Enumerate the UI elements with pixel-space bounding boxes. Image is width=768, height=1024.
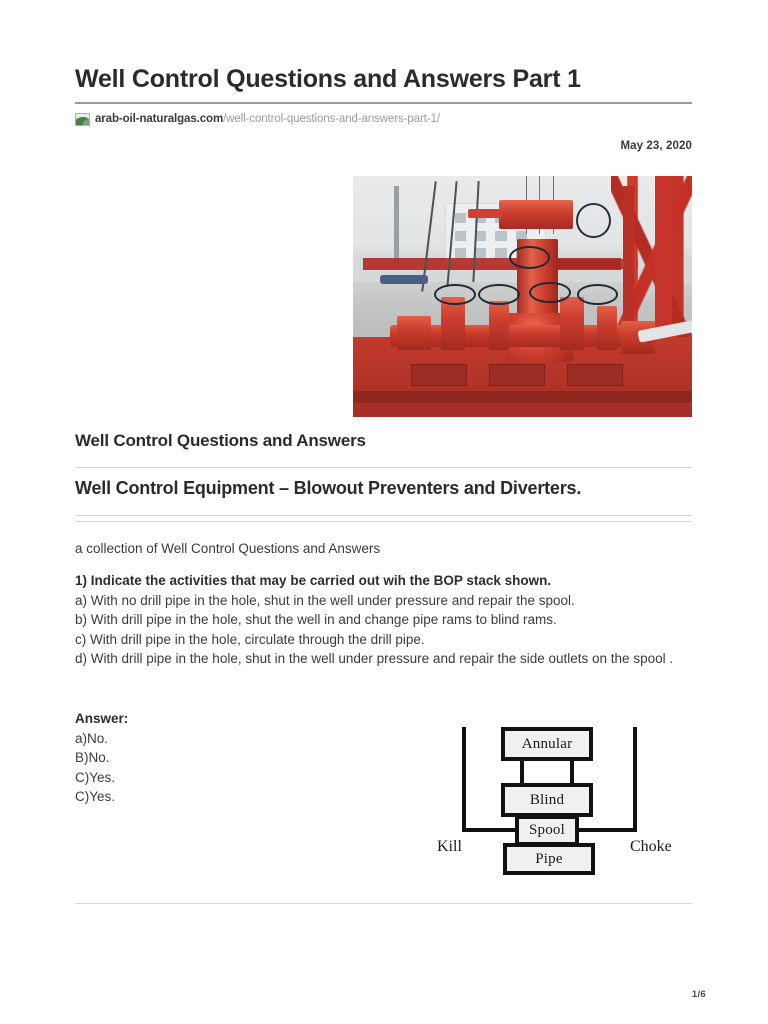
title-divider — [75, 102, 692, 104]
section-heading-2: Well Control Equipment – Blowout Prevent… — [75, 477, 692, 500]
diagram-box-pipe: Pipe — [503, 843, 595, 875]
section-2-divider — [75, 515, 692, 516]
photo-canvas — [353, 176, 692, 417]
site-favicon-icon — [75, 113, 90, 126]
section-heading-1-block: Well Control Questions and Answers — [75, 430, 692, 468]
page-title: Well Control Questions and Answers Part … — [75, 0, 692, 95]
kill-line-horizontal — [462, 828, 517, 832]
answer-line-a: a)No. — [75, 729, 375, 749]
url-domain: arab-oil-naturalgas.com — [95, 112, 223, 126]
url-path: /well-control-questions-and-answers-part… — [223, 112, 440, 126]
choke-line-horizontal — [577, 828, 637, 832]
annular-blind-connector-left — [520, 761, 524, 783]
answer-block: Answer: a)No. B)No. C)Yes. C)Yes. — [75, 709, 375, 807]
answer-line-d: C)Yes. — [75, 787, 375, 807]
diagram-label-kill: Kill — [437, 838, 462, 856]
photo-bop-top-box — [499, 200, 574, 229]
kill-line-vertical — [462, 727, 466, 832]
diagram-box-annular: Annular — [501, 727, 593, 761]
bop-stack-photograph — [353, 176, 692, 417]
photo-valve-1 — [397, 316, 431, 350]
photo-bop-nozzle — [468, 209, 502, 219]
footer-divider — [75, 903, 692, 904]
photo-utility-pole — [394, 186, 399, 263]
answer-line-b: B)No. — [75, 748, 375, 768]
document-page: Well Control Questions and Answers Part … — [0, 0, 768, 1024]
section-heading-1: Well Control Questions and Answers — [75, 430, 692, 452]
diagram-label-choke: Choke — [630, 838, 672, 856]
section-1-divider — [75, 467, 692, 468]
question-option-c: c) With drill pipe in the hole, circulat… — [75, 630, 692, 650]
photo-valve-4 — [560, 297, 584, 350]
question-option-a: a) With no drill pipe in the hole, shut … — [75, 591, 692, 611]
publish-date: May 23, 2020 — [75, 140, 692, 152]
diagram-box-spool: Spool — [515, 815, 579, 846]
photo-valve-3 — [489, 301, 509, 349]
choke-line-vertical — [633, 727, 637, 832]
answer-label: Answer: — [75, 709, 375, 729]
section-heading-2-block: Well Control Equipment – Blowout Prevent… — [75, 477, 692, 516]
photo-blue-pipe — [380, 275, 427, 285]
bop-stack-diagram: Annular Blind Spool Pipe Kill Choke — [437, 718, 687, 878]
question-block: 1) Indicate the activities that may be c… — [75, 571, 692, 669]
photo-handwheel-1 — [434, 284, 475, 305]
question-option-b: b) With drill pipe in the hole, shut the… — [75, 610, 692, 630]
photo-deck-edge — [353, 391, 692, 403]
intro-paragraph: a collection of Well Control Questions a… — [75, 539, 692, 559]
diagram-box-blind: Blind — [501, 783, 593, 817]
photo-valve-5 — [597, 306, 617, 349]
question-option-d: d) With drill pipe in the hole, shut in … — [75, 649, 692, 669]
answer-line-c: C)Yes. — [75, 768, 375, 788]
page-number: 1/6 — [692, 989, 706, 1000]
source-url-line[interactable]: arab-oil-naturalgas.com/well-control-que… — [75, 112, 692, 126]
photo-handwheel-2 — [478, 284, 519, 305]
intro-paragraph-block: a collection of Well Control Questions a… — [75, 539, 692, 559]
photo-handwheel-top — [576, 203, 611, 238]
photo-deck-plate-1 — [411, 364, 467, 385]
photo-deck-plate-2 — [489, 364, 545, 385]
section-2-divider-secondary — [75, 521, 692, 522]
document-content: Well Control Questions and Answers Part … — [75, 0, 692, 152]
annular-blind-connector-right — [570, 761, 574, 783]
question-prompt: 1) Indicate the activities that may be c… — [75, 571, 692, 591]
photo-deck-plate-3 — [567, 364, 623, 385]
photo-handwheel-3 — [529, 282, 570, 303]
